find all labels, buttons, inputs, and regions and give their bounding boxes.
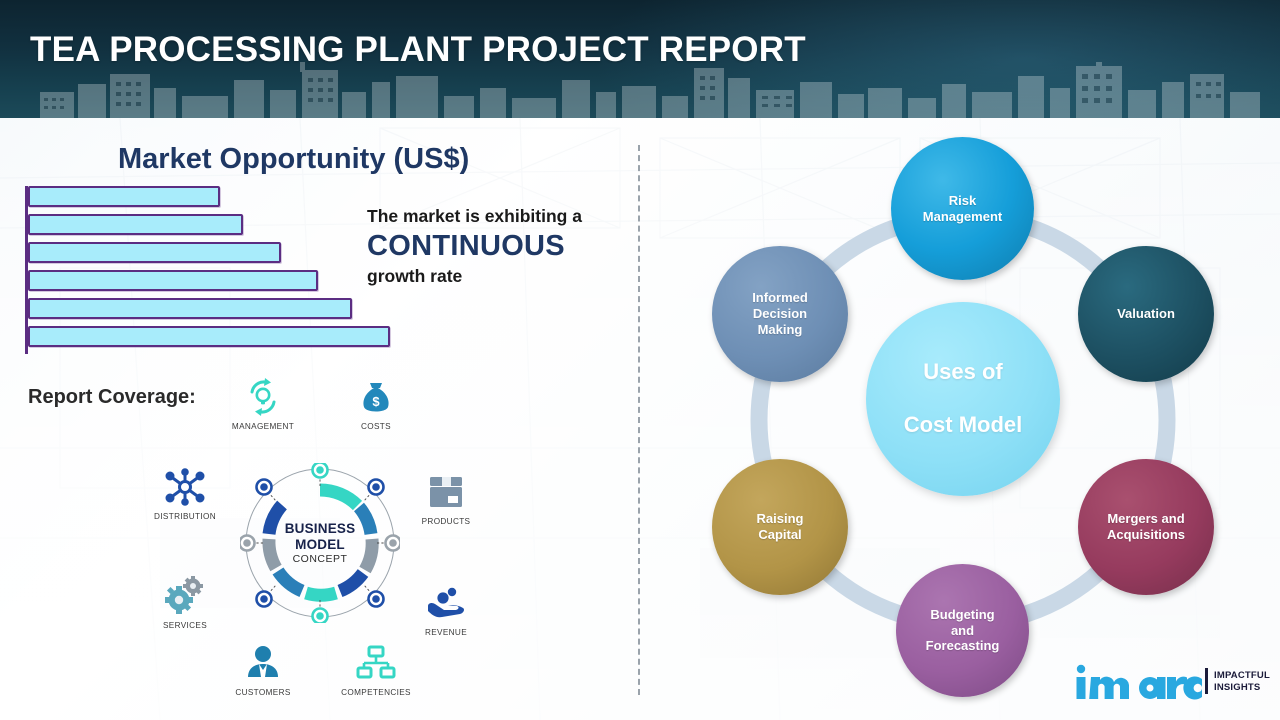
network-nodes-icon [137, 464, 233, 510]
user-person-icon [215, 640, 311, 686]
logo-separator-bar [1205, 668, 1208, 694]
market-callout-line1: The market is exhibiting a [367, 206, 629, 227]
bm-item-competencies: COMPETENCIES [328, 640, 424, 697]
right-panel: RiskManagement Valuation Mergers andAcqu… [638, 118, 1280, 720]
bm-item-management: MANAGEMENT [215, 374, 311, 431]
bm-label-products: PRODUCTS [398, 517, 494, 526]
bar-row [28, 326, 390, 347]
node-uses-of-cost-model[interactable]: Uses ofCost Model [866, 302, 1060, 496]
package-box-icon [398, 469, 494, 515]
node-risk-management-label: RiskManagement [917, 193, 1008, 225]
bar-row [28, 298, 352, 319]
node-mergers-acquisitions-label: Mergers andAcquisitions [1101, 511, 1191, 543]
page-title: TEA PROCESSING PLANT PROJECT REPORT [30, 30, 806, 70]
bar-6 [28, 326, 390, 347]
bm-item-services: SERVICES [137, 573, 233, 630]
business-model-ring [240, 463, 400, 623]
bm-label-competencies: COMPETENCIES [328, 688, 424, 697]
slide-root: TEA PROCESSING PLANT PROJECT REPORT [0, 0, 1280, 720]
market-callout-headline: CONTINUOUS [367, 227, 629, 266]
bar-row [28, 270, 318, 291]
bm-item-revenue: REVENUE [398, 580, 494, 637]
node-uses-of-cost-model-label: Uses ofCost Model [892, 359, 1035, 439]
bar-3 [28, 242, 281, 263]
bm-label-services: SERVICES [137, 621, 233, 630]
center-line1: Uses of [898, 359, 1029, 386]
imarc-logo[interactable]: IMPACTFUL INSIGHTS [1072, 662, 1262, 706]
city-skyline-icon [0, 62, 1280, 118]
hand-coins-icon [398, 580, 494, 626]
market-callout-line2: growth rate [367, 266, 629, 287]
svg-text:$: $ [372, 394, 380, 409]
node-valuation[interactable]: Valuation [1078, 246, 1214, 382]
left-panel: Market Opportunity (US$) The mar [0, 118, 638, 720]
node-valuation-label: Valuation [1111, 306, 1181, 322]
bm-item-products: PRODUCTS [398, 469, 494, 526]
bar-4 [28, 270, 318, 291]
node-raising-capital-label: RaisingCapital [751, 511, 810, 543]
bar-5 [28, 298, 352, 319]
bar-row [28, 214, 243, 235]
node-mergers-acquisitions[interactable]: Mergers andAcquisitions [1078, 459, 1214, 595]
logo-tagline-line2: INSIGHTS [1214, 682, 1270, 694]
bm-label-management: MANAGEMENT [215, 422, 311, 431]
gears-icon [137, 573, 233, 619]
node-informed-decision-making-label: InformedDecisionMaking [746, 290, 814, 338]
bar-row [28, 186, 220, 207]
business-model-diagram: MANAGEMENT $ COSTS [140, 368, 500, 713]
market-opportunity-bar-chart [25, 186, 405, 354]
node-budgeting-forecasting[interactable]: BudgetingandForecasting [896, 564, 1029, 697]
bm-label-costs: COSTS [328, 422, 424, 431]
header-banner: TEA PROCESSING PLANT PROJECT REPORT [0, 0, 1280, 118]
imarc-wordmark-icon [1072, 662, 1204, 702]
node-informed-decision-making[interactable]: InformedDecisionMaking [712, 246, 848, 382]
bm-label-revenue: REVENUE [398, 628, 494, 637]
bm-item-distribution: DISTRIBUTION [137, 464, 233, 521]
node-raising-capital[interactable]: RaisingCapital [712, 459, 848, 595]
center-line2: Cost Model [898, 412, 1029, 439]
org-chart-icon [328, 640, 424, 686]
market-opportunity-title: Market Opportunity (US$) [118, 143, 469, 176]
bm-item-customers: CUSTOMERS [215, 640, 311, 697]
logo-tagline-line1: IMPACTFUL [1214, 670, 1270, 682]
bar-row [28, 242, 281, 263]
bm-item-costs: $ COSTS [328, 374, 424, 431]
node-risk-management[interactable]: RiskManagement [891, 137, 1034, 280]
node-budgeting-forecasting-label: BudgetingandForecasting [920, 607, 1006, 655]
bm-label-customers: CUSTOMERS [215, 688, 311, 697]
lightbulb-refresh-icon [215, 374, 311, 420]
logo-tagline: IMPACTFUL INSIGHTS [1214, 670, 1270, 695]
bm-label-distribution: DISTRIBUTION [137, 512, 233, 521]
money-bag-icon: $ [328, 374, 424, 420]
bar-2 [28, 214, 243, 235]
market-callout: The market is exhibiting a CONTINUOUS gr… [367, 206, 629, 287]
bar-1 [28, 186, 220, 207]
